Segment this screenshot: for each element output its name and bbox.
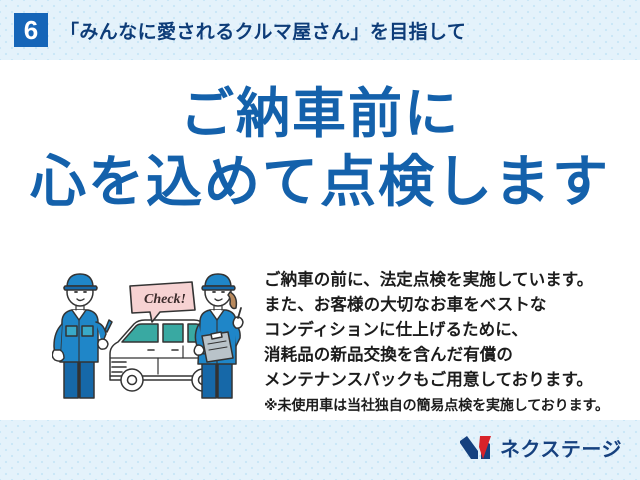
headline-line-2: 心を込めて点検します xyxy=(0,148,640,216)
step-number-badge: 6 xyxy=(14,13,48,47)
nextage-n-mark-icon xyxy=(459,435,493,460)
header-title: 「みんなに愛されるクルマ屋さん」を目指して xyxy=(60,17,466,44)
body-note: ※未使用車は当社独自の簡易点検を実施しております。 xyxy=(264,395,630,416)
mechanic-left xyxy=(52,274,112,398)
headline-line-1: ご納車前に xyxy=(0,82,640,148)
header-bar: 6 「みんなに愛されるクルマ屋さん」を目指して xyxy=(0,0,640,60)
mechanic-right xyxy=(194,274,243,398)
check-speech-bubble: Check! xyxy=(130,282,195,322)
body-line-5: メンテナンスパックもご用意しております。 xyxy=(264,368,630,393)
footer-bar: ネクステージ xyxy=(0,420,640,480)
headline: ご納車前に 心を込めて点検します xyxy=(0,82,640,216)
body-line-4: 消耗品の新品交換を含んだ有償の xyxy=(264,343,630,368)
mechanics-illustration-svg: Check! xyxy=(52,262,262,402)
mechanics-illustration: Check! xyxy=(52,262,262,402)
brand-name: ネクステージ xyxy=(500,433,622,462)
body-line-3: コンディションに仕上げるために、 xyxy=(264,318,630,343)
body-text-block: ご納車の前に、法定点検を実施しています。 また、お客様の大切なお車をベストな コ… xyxy=(264,268,630,416)
body-line-2: また、お客様の大切なお車をベストな xyxy=(264,293,630,318)
content-card: ご納車前に 心を込めて点検します xyxy=(0,60,640,420)
brand-logo: ネクステージ xyxy=(459,432,622,462)
body-line-1: ご納車の前に、法定点検を実施しています。 xyxy=(264,268,630,293)
advertisement-page: 6 「みんなに愛されるクルマ屋さん」を目指して ご納車前に 心を込めて点検します xyxy=(0,0,640,480)
lower-section: Check! xyxy=(0,256,640,420)
speech-bubble-text: Check! xyxy=(144,292,186,307)
